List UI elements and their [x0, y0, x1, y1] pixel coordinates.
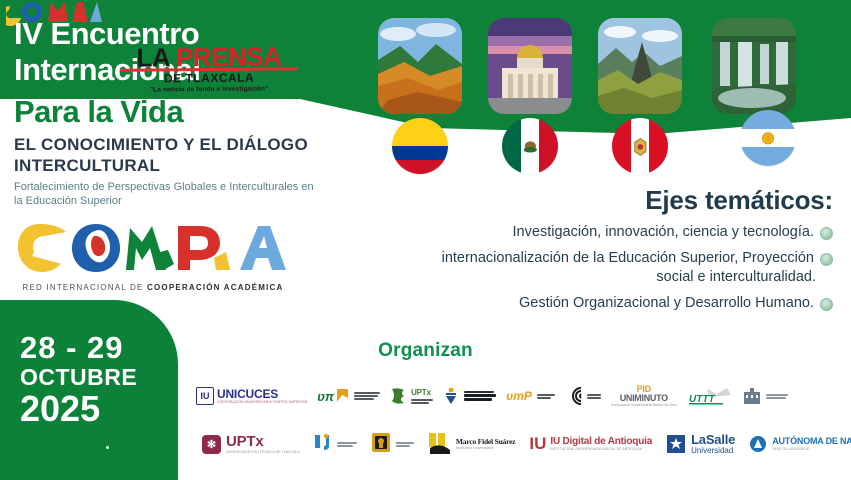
- photo-argentina-iguazu-falls: [712, 18, 796, 114]
- thematic-axis-item: internacionalización de la Educación Sup…: [363, 249, 833, 268]
- compa-wordmark-icon: [18, 218, 286, 276]
- ie-crest-icon: [371, 432, 391, 456]
- unp-building-icon: [743, 386, 761, 406]
- continental-mark-icon: [565, 387, 583, 405]
- ujat-mark-icon: [314, 433, 332, 455]
- autonoma-narino-mark-icon: [749, 435, 767, 453]
- organizer-mark-text: UPTx: [411, 389, 433, 397]
- flag-peru: [612, 118, 668, 174]
- compa-caption-bold: COOPERACIÓN ACADÉMICA: [147, 283, 283, 292]
- event-subtitle: EL CONOCIMIENTO Y EL DIÁLOGO INTERCULTUR…: [14, 134, 344, 176]
- photo-peru-machu-picchu: [598, 18, 682, 114]
- organizer-name-main: LaSalle: [691, 433, 735, 446]
- organizer-logo-ie: [371, 432, 414, 456]
- organizer-logo-uttt: UTTT: [687, 386, 733, 406]
- organizer-subtitle: CORPORACIÓN UNIVERSITARIA CENTRO SUPERIO…: [217, 401, 307, 404]
- colegio-mayor-mark-icon: [443, 387, 459, 405]
- organizer-logo-colegio-mayor-antioquia: [443, 387, 496, 405]
- iu-digital-mark-icon: IU: [529, 434, 546, 454]
- organizer-logo-continental: [565, 387, 601, 405]
- leaf-bullet-icon: [820, 298, 833, 311]
- organizer-logo-uptx: ✻ UPTx UNIVERSIDAD POLITÉCNICA DE TLAXCA…: [202, 434, 300, 454]
- organizer-logo-lasalle: LaSalle Universidad: [666, 433, 735, 455]
- organizer-logo-uniminuto: PID UNIMINUTO Corporación Universitaria …: [611, 385, 677, 408]
- organizer-logo-utt: ʋπ: [317, 389, 380, 404]
- organizer-logo-utp: ᴜтP: [506, 389, 555, 403]
- thematic-axis-item: Investigación, innovación, ciencia y tec…: [363, 223, 833, 242]
- compa-caption-plain: RED INTERNACIONAL DE: [23, 283, 147, 292]
- thematic-axis-text: internacionalización de la Educación Sup…: [442, 249, 814, 268]
- thematic-axis-item: Gestión Organizacional y Desarrollo Huma…: [363, 294, 833, 313]
- organizer-name: AUTÓNOMA DE NARIÑO: [772, 437, 851, 446]
- organizer-name: UPTx: [226, 434, 300, 449]
- organizer-logo-unp: [743, 386, 788, 406]
- organizer-name: IU Digital de Antioquia: [550, 437, 652, 447]
- organizer-logo-row-2: ✻ UPTx UNIVERSIDAD POLITÉCNICA DE TLAXCA…: [196, 420, 844, 468]
- organizer-subtitle: Corporación Universitaria Minuto de Dios: [611, 404, 677, 407]
- utt-wordmark-lines: [354, 392, 380, 400]
- organizer-name: Marco Fidel Suárez: [456, 438, 515, 446]
- leaf-bullet-icon: [820, 227, 833, 240]
- watermark-tagline: "La noticia de fondo e investigación": [118, 84, 300, 95]
- organizer-logo-row-1: IU UNICUCES CORPORACIÓN UNIVERSITARIA CE…: [196, 372, 844, 420]
- continental-wordmark-lines: [587, 394, 601, 399]
- event-tagline: Fortalecimiento de Perspectivas Globales…: [14, 180, 314, 208]
- organizer-subtitle: Institución Universitaria: [456, 447, 515, 450]
- thematic-axis-text: Investigación, innovación, ciencia y tec…: [513, 223, 814, 242]
- photo-mexico-palacio-bellas-artes: [488, 18, 572, 114]
- thematic-axes-title: Ejes temáticos:: [363, 185, 833, 216]
- organizer-logo-autonoma-narino: AUTÓNOMA DE NARIÑO SEDE VILLAVICENCIO: [749, 435, 851, 453]
- mouse-cursor: [106, 446, 109, 449]
- compa-logo-large: RED INTERNACIONAL DE COOPERACIÓN ACADÉMI…: [18, 218, 288, 292]
- organizer-subtitle: SEDE VILLAVICENCIO: [772, 448, 851, 451]
- utt-flag-icon: [337, 389, 348, 403]
- lasalle-star-icon: [666, 433, 686, 455]
- watermark-prensa: PRENSA: [176, 41, 282, 72]
- organizer-logo-unicuces: IU UNICUCES CORPORACIÓN UNIVERSITARIA CE…: [196, 387, 307, 405]
- watermark-la-prensa: LA PRENSA DE TLAXCALA "La noticia de fon…: [118, 43, 300, 95]
- organizer-logo-uptlax: UPTx: [390, 387, 433, 405]
- flag-argentina: [740, 110, 796, 166]
- ujat-wordmark-lines: [337, 442, 357, 447]
- date-month: OCTUBRE: [20, 364, 170, 390]
- organizer-subtitle: INSTITUCIÓN UNIVERSITARIA DIGITAL DE ANT…: [550, 448, 652, 451]
- compa-caption: RED INTERNACIONAL DE COOPERACIÓN ACADÉMI…: [18, 283, 288, 292]
- flag-mexico: [502, 118, 558, 174]
- watermark-la: LA: [136, 42, 176, 72]
- watermark-title: LA PRENSA: [118, 43, 300, 71]
- organizer-logos: IU UNICUCES CORPORACIÓN UNIVERSITARIA CE…: [196, 372, 844, 468]
- mfs-crest-icon: [428, 432, 452, 456]
- organizer-logo-marco-fidel-suarez: Marco Fidel Suárez Institución Universit…: [428, 432, 515, 456]
- ie-wordmark-lines: [396, 442, 414, 447]
- thematic-axis-text: Gestión Organizacional y Desarrollo Huma…: [519, 294, 814, 313]
- organizer-logo-ujat: [314, 433, 357, 455]
- organizer-subtitle: UNIVERSIDAD POLITÉCNICA DE TLAXCALA: [226, 451, 300, 454]
- uptlax-wordmark-lines: [411, 399, 433, 404]
- photo-colombia-landscape: [378, 18, 462, 114]
- leaf-bullet-icon: [820, 253, 833, 266]
- organizer-logo-iu-digital: IU IU Digital de Antioquia INSTITUCIÓN U…: [529, 434, 652, 454]
- organizers-heading: Organizan: [0, 340, 851, 362]
- uptlax-mark-icon: [390, 387, 406, 405]
- organizer-name: UNICUCES: [217, 388, 307, 400]
- date-year: 2025: [20, 390, 170, 428]
- flag-colombia: [392, 118, 448, 174]
- colegio-mayor-wordmark-lines: [464, 391, 496, 401]
- organizer-name-sub: Universidad: [691, 447, 735, 455]
- uttt-mark-icon: UTTT: [687, 386, 733, 406]
- title-line-3: Para la Vida: [14, 94, 183, 130]
- unicuces-mark-icon: IU: [196, 387, 214, 405]
- thematic-axes-section: Ejes temáticos: Investigación, innovació…: [363, 185, 833, 313]
- organizer-name: UNIMINUTO: [620, 394, 668, 403]
- event-poster: IV Encuentro Internacional Para la Vida …: [0, 0, 851, 480]
- uptx-flower-icon: ✻: [202, 435, 221, 454]
- utt-mark-icon: ʋπ: [317, 389, 334, 404]
- utp-mark-icon: ᴜтP: [506, 389, 532, 403]
- thematic-axis-text-continuation: social e interculturalidad.: [363, 268, 816, 287]
- utp-wordmark-lines: [537, 394, 555, 399]
- unp-wordmark-lines: [766, 394, 788, 399]
